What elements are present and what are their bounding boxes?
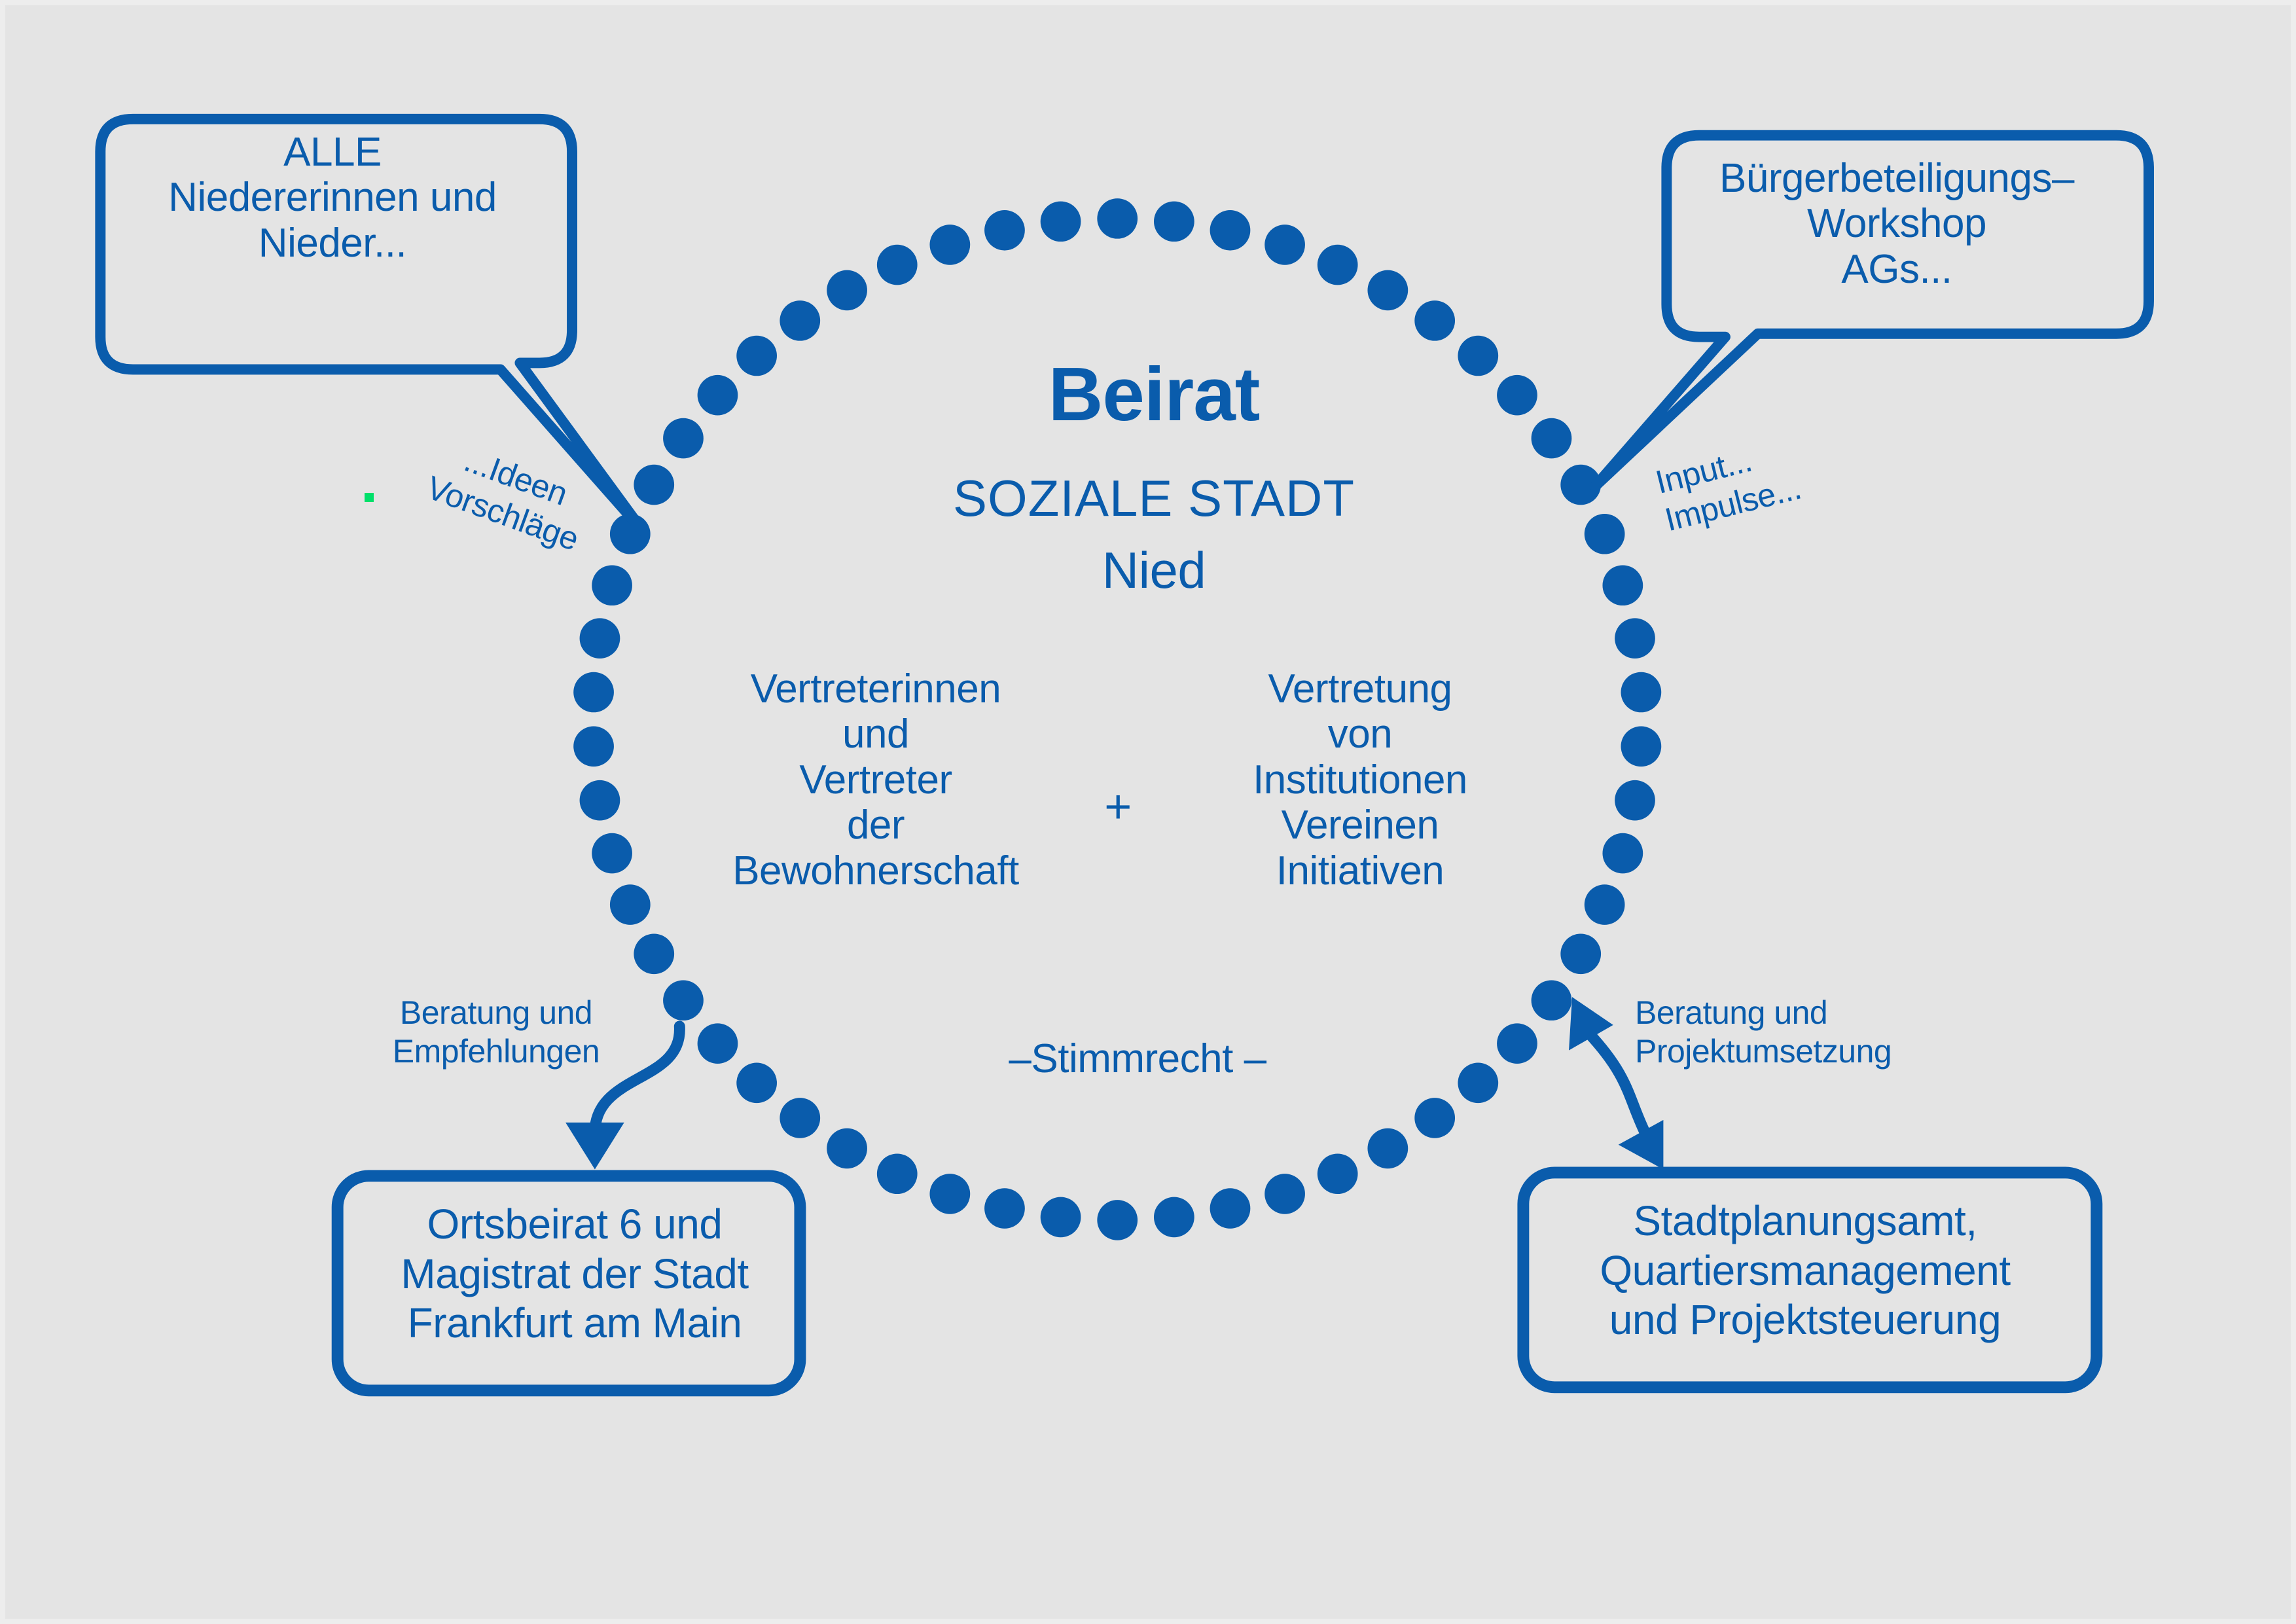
box-left-label: Ortsbeirat 6 und Magistrat der Stadt Fra…	[346, 1200, 804, 1348]
box-right-label: Stadtplanungsamt, Quartiersmanagement un…	[1537, 1197, 2073, 1345]
ellipse-dot	[1041, 1197, 1081, 1238]
ellipse-dot	[984, 1188, 1025, 1229]
ellipse-dot	[1602, 833, 1643, 874]
members-column-institutions: Vertretung von Institutionen Vereinen In…	[1177, 666, 1543, 893]
ellipse-dot	[698, 1023, 738, 1064]
ellipse-dot	[698, 375, 738, 416]
ellipse-dot	[1615, 618, 1655, 659]
ellipse-dot	[1497, 1023, 1537, 1064]
green-marker-dot	[365, 493, 374, 502]
ellipse-dot	[929, 1174, 970, 1214]
ellipse-dot	[1621, 672, 1662, 713]
ellipse-dot	[736, 1063, 777, 1104]
ellipse-dot	[573, 727, 614, 767]
plus-icon: +	[1072, 781, 1164, 834]
ellipse-dot	[827, 1128, 867, 1169]
ellipse-dot	[1367, 270, 1408, 311]
ellipse-dot	[580, 780, 620, 821]
location-label: Nied	[778, 542, 1530, 599]
ellipse-dot	[573, 672, 614, 713]
ellipse-dot	[1414, 1098, 1455, 1138]
ellipse-dot	[1265, 1174, 1305, 1214]
ellipse-dot	[1210, 1188, 1251, 1229]
ellipse-dot	[580, 618, 620, 659]
ellipse-dot	[1532, 980, 1572, 1020]
ellipse-dot	[780, 1098, 820, 1138]
ellipse-dot	[1615, 780, 1655, 821]
ellipse-dot	[780, 300, 820, 341]
subtitle: SOZIALE STADT	[778, 470, 1530, 527]
ellipse-dot	[736, 336, 777, 376]
ellipse-dot	[634, 933, 674, 974]
ellipse-dot	[1414, 300, 1455, 341]
ellipse-dot	[1602, 565, 1643, 605]
ellipse-dot	[1318, 1153, 1358, 1194]
bubble-left-label: ALLE Niedererinnen und Nieder...	[103, 130, 562, 266]
ellipse-dot	[1154, 202, 1194, 242]
voting-rights-note: –Stimmrecht –	[941, 1036, 1334, 1081]
ellipse-dot	[877, 245, 918, 285]
ellipse-dot	[1585, 514, 1625, 554]
ellipse-dot	[1532, 418, 1572, 459]
ellipse-dot	[827, 270, 867, 311]
ellipse-dot	[1097, 198, 1138, 239]
page-title: Beirat	[778, 352, 1530, 437]
ellipse-dot	[663, 980, 704, 1020]
ellipse-dot	[1154, 1197, 1194, 1238]
ellipse-dot	[929, 225, 970, 265]
annotation-beratung-empfehlungen: Beratung und Empfehlungen	[359, 994, 634, 1071]
ellipse-dot	[877, 1153, 918, 1194]
ellipse-dot	[1458, 1063, 1498, 1104]
ellipse-dot	[1585, 884, 1625, 925]
ellipse-dot	[1560, 933, 1601, 974]
ellipse-dot	[663, 418, 704, 459]
ellipse-dot	[1367, 1128, 1408, 1169]
ellipse-dot	[592, 833, 632, 874]
ellipse-dot	[610, 884, 651, 925]
members-column-residents: Vertreterinnen und Vertreter der Bewohne…	[692, 666, 1059, 893]
ellipse-dot	[1621, 727, 1662, 767]
bubble-right-label: Bürgerbeteiligungs– Workshop AGs...	[1668, 156, 2126, 292]
ellipse-dot	[1041, 202, 1081, 242]
ellipse-dot	[1265, 225, 1305, 265]
ellipse-dot	[1097, 1200, 1138, 1240]
ellipse-dot	[634, 465, 674, 505]
ellipse-dot	[984, 210, 1025, 251]
ellipse-dot	[1318, 245, 1358, 285]
diagram-canvas: {} ALLE Niedererinnen und Nieder... Bürg…	[0, 0, 2296, 1624]
ellipse-dot	[1210, 210, 1251, 251]
annotation-beratung-projektumsetzung: Beratung und Projektumsetzung	[1635, 994, 1949, 1071]
